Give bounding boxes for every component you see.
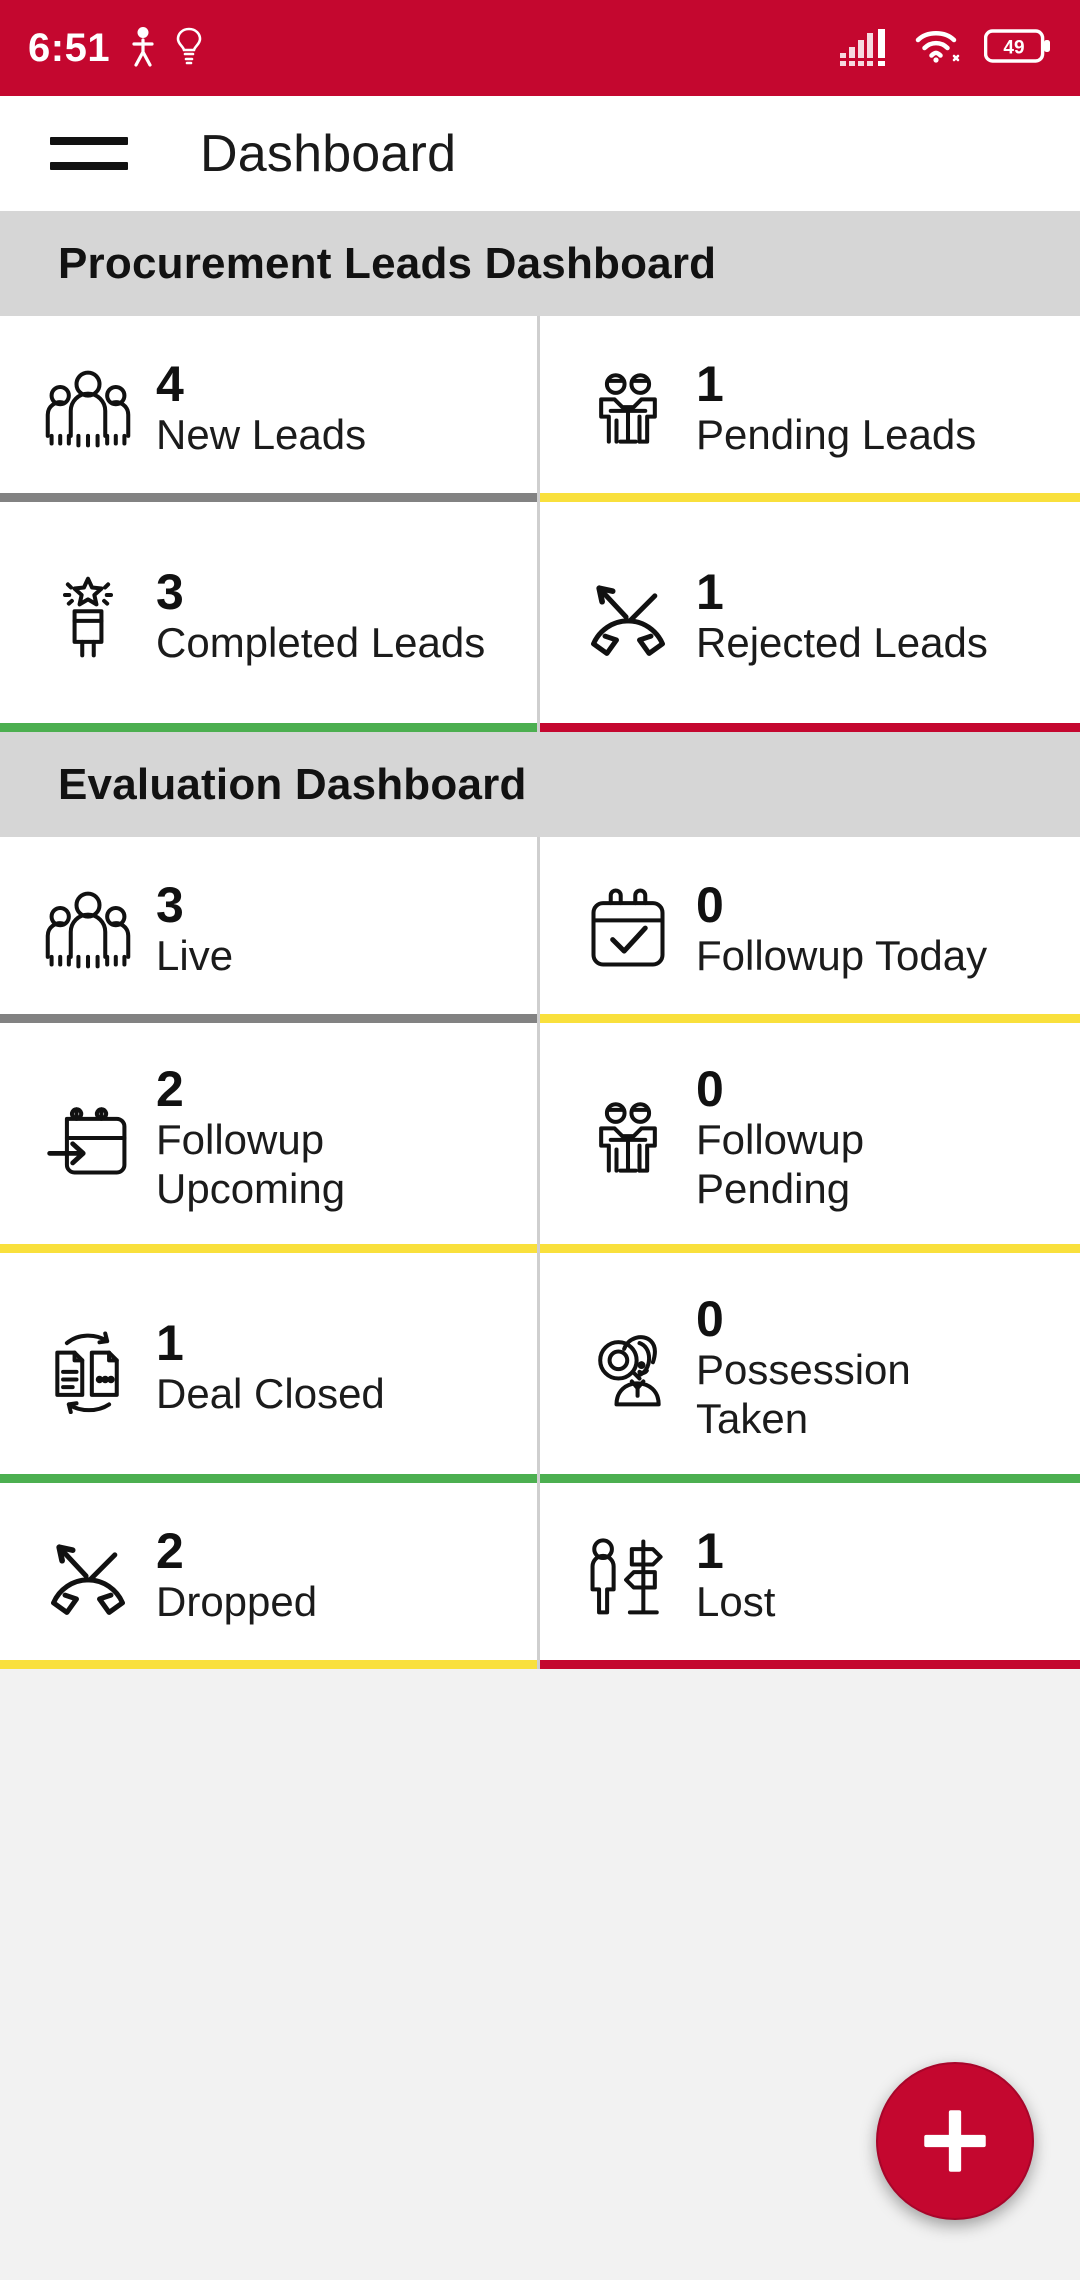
calendar-arrow-icon	[34, 1084, 142, 1192]
stat-card-text: 3 Live	[156, 879, 233, 980]
people-group-icon	[34, 876, 142, 984]
stat-card[interactable]: 2 Dropped	[0, 1483, 540, 1669]
stat-card-text: 1 Lost	[696, 1525, 775, 1626]
documents-exchange-icon	[34, 1314, 142, 1422]
status-bar-left: 6:51	[28, 25, 202, 72]
scatter-arrows-icon	[574, 563, 682, 671]
stat-card-label: Followup Pending	[696, 1115, 1026, 1213]
wifi-icon	[914, 25, 964, 72]
meeting-table-icon	[574, 1084, 682, 1192]
stat-card-value: 1	[696, 566, 988, 618]
stat-card[interactable]: 1 Deal Closed	[0, 1253, 540, 1483]
page-title: Dashboard	[200, 124, 456, 184]
stat-card-text: 1 Pending Leads	[696, 358, 976, 459]
stat-card-label: Completed Leads	[156, 618, 485, 667]
stat-card-text: 3 Completed Leads	[156, 566, 485, 667]
stat-card-text: 1 Rejected Leads	[696, 566, 988, 667]
stat-card-label: Followup Upcoming	[156, 1115, 486, 1213]
signal-bars-icon	[840, 25, 894, 72]
stat-card[interactable]: 0 Possession Taken	[540, 1253, 1080, 1483]
dashboard-page: 6:51	[0, 0, 1080, 2280]
section-header: Procurement Leads Dashboard	[0, 211, 1080, 316]
stat-card-value: 4	[156, 358, 366, 410]
stat-card-text: 0 Followup Today	[696, 879, 987, 980]
plus-icon	[914, 2100, 996, 2182]
calendar-check-icon	[574, 876, 682, 984]
stat-card-label: Followup Today	[696, 931, 987, 980]
card-grid: 3 Live 0 Followup Today 2 Followup Upcom…	[0, 837, 1080, 1669]
stat-card[interactable]: 1 Lost	[540, 1483, 1080, 1669]
stat-card-value: 0	[696, 1063, 1026, 1115]
stat-card-text: 2 Dropped	[156, 1525, 317, 1626]
meeting-table-icon	[574, 355, 682, 463]
person-search-icon	[574, 1314, 682, 1422]
stat-card-label: Live	[156, 931, 233, 980]
status-clock: 6:51	[28, 26, 110, 71]
stat-card-text: 4 New Leads	[156, 358, 366, 459]
section-title: Evaluation Dashboard	[58, 760, 527, 810]
stat-card-text: 1 Deal Closed	[156, 1317, 385, 1418]
stat-card-label: Dropped	[156, 1577, 317, 1626]
stat-card[interactable]: 3 Completed Leads	[0, 502, 540, 732]
battery-level-text: 49	[1003, 37, 1024, 58]
stat-card-text: 0 Possession Taken	[696, 1293, 1026, 1443]
battery-icon: 49	[984, 28, 1052, 69]
stat-card[interactable]: 0 Followup Today	[540, 837, 1080, 1023]
hamburger-menu-icon[interactable]	[50, 137, 128, 170]
stat-card-value: 3	[156, 566, 485, 618]
add-fab-button[interactable]	[876, 2062, 1034, 2220]
status-bar: 6:51	[0, 0, 1080, 96]
people-group-icon	[34, 355, 142, 463]
stat-card-text: 0 Followup Pending	[696, 1063, 1026, 1213]
person-icon	[128, 25, 158, 72]
idea-bulb-icon	[176, 26, 202, 71]
stat-card[interactable]: 4 New Leads	[0, 316, 540, 502]
app-bar: Dashboard	[0, 96, 1080, 211]
stat-card-value: 0	[696, 1293, 1026, 1345]
stat-card-label: Lost	[696, 1577, 775, 1626]
stat-card-label: Pending Leads	[696, 410, 976, 459]
stat-card-label: New Leads	[156, 410, 366, 459]
card-grid: 4 New Leads 1 Pending Leads 3 Completed …	[0, 316, 1080, 732]
person-signpost-icon	[574, 1522, 682, 1630]
section-title: Procurement Leads Dashboard	[58, 239, 716, 289]
stat-card-value: 2	[156, 1063, 486, 1115]
stat-card[interactable]: 0 Followup Pending	[540, 1023, 1080, 1253]
stat-card-value: 1	[696, 1525, 775, 1577]
stat-card-text: 2 Followup Upcoming	[156, 1063, 486, 1213]
stat-card[interactable]: 1 Rejected Leads	[540, 502, 1080, 732]
stat-card[interactable]: 1 Pending Leads	[540, 316, 1080, 502]
stat-card[interactable]: 3 Live	[0, 837, 540, 1023]
stat-card-value: 3	[156, 879, 233, 931]
stat-card-value: 0	[696, 879, 987, 931]
stat-card-value: 1	[696, 358, 976, 410]
stat-card-label: Rejected Leads	[696, 618, 988, 667]
stat-card-label: Deal Closed	[156, 1369, 385, 1418]
bottom-spacer	[0, 1669, 1080, 1729]
status-bar-right: 49	[840, 25, 1052, 72]
dashboard-sections: Procurement Leads Dashboard 4 New Leads …	[0, 211, 1080, 1669]
stat-card-value: 1	[156, 1317, 385, 1369]
stat-card-label: Possession Taken	[696, 1345, 1026, 1443]
section-header: Evaluation Dashboard	[0, 732, 1080, 837]
stat-card-value: 2	[156, 1525, 317, 1577]
hamburger-line	[50, 162, 128, 170]
hamburger-line	[50, 137, 128, 145]
person-star-icon	[34, 563, 142, 671]
stat-card[interactable]: 2 Followup Upcoming	[0, 1023, 540, 1253]
scatter-arrows-icon	[34, 1522, 142, 1630]
